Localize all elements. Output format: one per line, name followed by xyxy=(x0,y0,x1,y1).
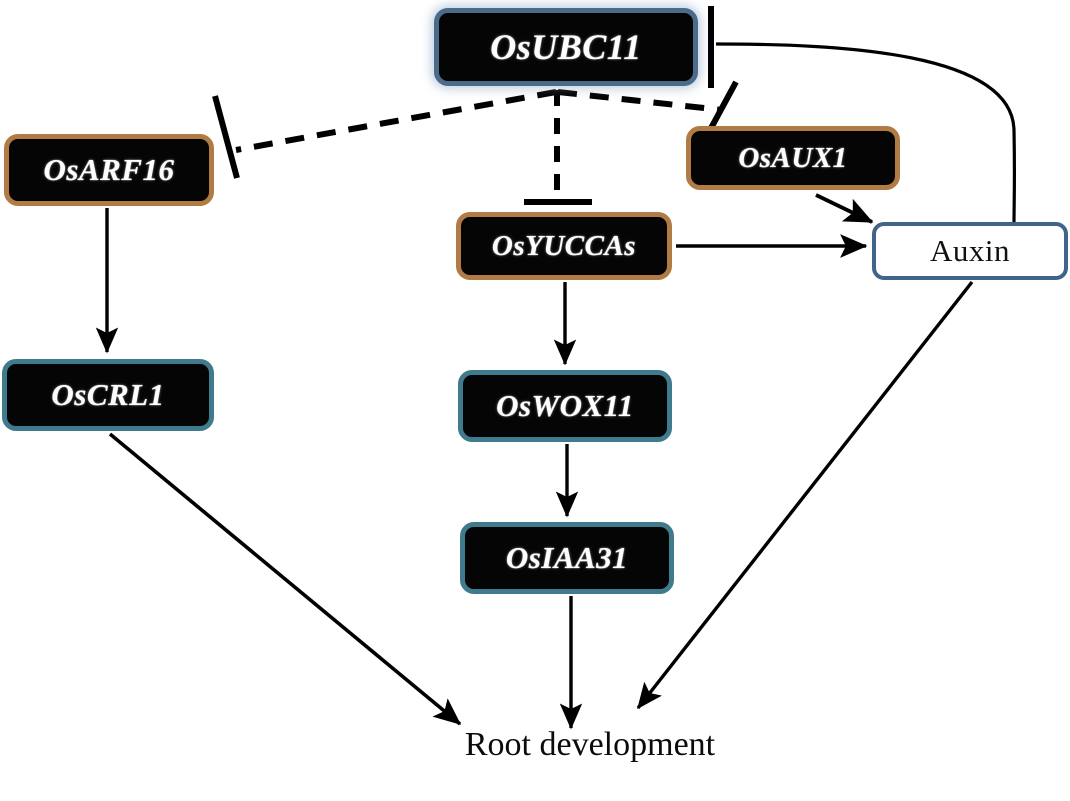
node-label-osaux1: OsAUX1 xyxy=(738,142,847,175)
edge-ubc11-inhibits-aux1 xyxy=(558,92,722,110)
node-osyuccas[interactable]: OsYUCCAs xyxy=(456,212,672,280)
edge-auxin-activates-root xyxy=(638,282,972,708)
node-label-osyuccas: OsYUCCAs xyxy=(492,230,636,263)
node-oswox11[interactable]: OsWOX11 xyxy=(458,370,672,442)
node-osiaa31[interactable]: OsIAA31 xyxy=(460,522,674,594)
inhibition-bar-aux1 xyxy=(710,82,736,130)
node-osarf16[interactable]: OsARF16 xyxy=(4,134,214,206)
edge-aux1-activates-auxin xyxy=(816,195,872,222)
pathway-diagram: OsUBC11 OsARF16 OsAUX1 OsYUCCAs Auxin Os… xyxy=(0,0,1070,801)
node-label-oswox11: OsWOX11 xyxy=(496,388,634,424)
node-oscrl1[interactable]: OsCRL1 xyxy=(2,359,214,431)
node-auxin[interactable]: Auxin xyxy=(872,222,1068,280)
node-osubc11[interactable]: OsUBC11 xyxy=(434,8,698,86)
node-label-oscrl1: OsCRL1 xyxy=(51,377,164,413)
node-osaux1[interactable]: OsAUX1 xyxy=(686,126,900,190)
edge-crl1-activates-root xyxy=(110,434,460,724)
node-label-osubc11: OsUBC11 xyxy=(490,26,642,68)
terminal-label-root-development: Root development xyxy=(430,726,750,764)
node-label-osiaa31: OsIAA31 xyxy=(506,540,628,576)
edge-ubc11-inhibits-arf16 xyxy=(236,92,556,150)
inhibition-bar-arf16 xyxy=(215,96,237,178)
node-label-auxin: Auxin xyxy=(930,233,1010,269)
node-label-osarf16: OsARF16 xyxy=(44,152,175,188)
